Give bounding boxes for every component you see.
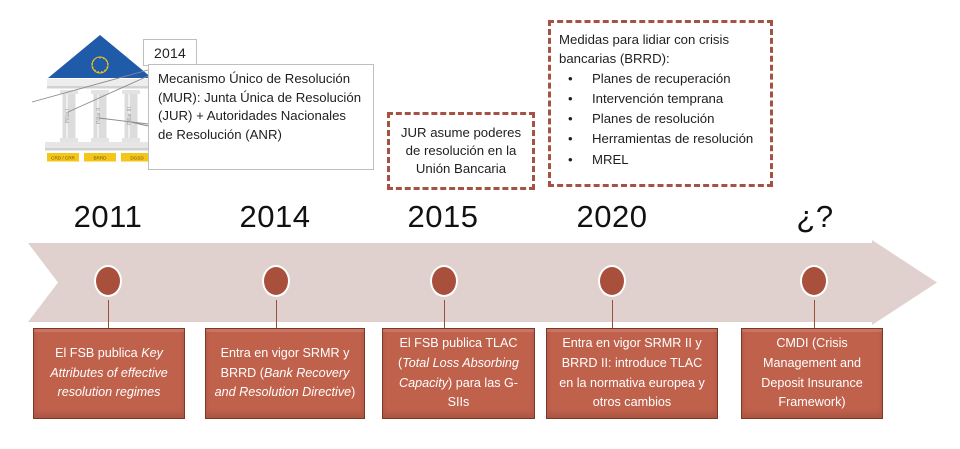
connector-stem-2015 xyxy=(444,300,445,328)
event-box-2014[interactable]: Entra en vigor SRMR y BRRD (Bank Recover… xyxy=(205,328,365,419)
connector-stem-future xyxy=(814,300,815,328)
event-box-text: El FSB publica TLAC (Total Loss Absorbin… xyxy=(390,334,527,412)
bullet-glyph: • xyxy=(568,89,573,109)
callout-year-chip-2014: 2014 xyxy=(143,39,197,66)
event-box-text: Entra en vigor SRMR y BRRD (Bank Recover… xyxy=(213,344,357,403)
year-label-2014: 2014 xyxy=(225,198,325,236)
list-item: • Planes de resolución xyxy=(559,109,762,129)
event-box-2015[interactable]: El FSB publica TLAC (Total Loss Absorbin… xyxy=(382,328,535,419)
svg-text:Pillar II: Pillar II xyxy=(96,108,102,124)
callout-brrd-bullet-list: • Planes de recuperación • Intervención … xyxy=(559,69,762,169)
connector-stem-2011 xyxy=(108,300,109,328)
svg-text:CRD / CRR: CRD / CRR xyxy=(51,155,75,160)
list-item: • MREL xyxy=(559,150,762,170)
year-label-2015: 2015 xyxy=(393,198,493,236)
bullet-glyph: • xyxy=(568,69,573,89)
milestone-dot-2014[interactable] xyxy=(262,265,290,297)
callout-brrd-measures: Medidas para lidiar con crisis bancarias… xyxy=(548,20,773,187)
milestone-dot-future[interactable] xyxy=(800,265,828,297)
milestone-dot-2020[interactable] xyxy=(598,265,626,297)
list-item-label: Herramientas de resolución xyxy=(592,131,753,146)
bullet-glyph: • xyxy=(568,129,573,149)
year-label-future: ¿? xyxy=(765,198,865,236)
connector-stem-2014 xyxy=(276,300,277,328)
event-box-future[interactable]: CMDI (Crisis Management and Deposit Insu… xyxy=(741,328,883,419)
event-box-text: CMDI (Crisis Management and Deposit Insu… xyxy=(749,334,875,412)
callout-brrd-heading: Medidas para lidiar con crisis bancarias… xyxy=(559,30,762,68)
callout-jur-resolution-powers: JUR asume poderes de resolución en la Un… xyxy=(387,112,535,190)
event-box-text: El FSB publica Key Attributes of effecti… xyxy=(41,344,177,403)
event-box-2020[interactable]: Entra en vigor SRMR II y BRRD II: introd… xyxy=(546,328,718,419)
list-item: • Planes de recuperación xyxy=(559,69,762,89)
year-label-2020: 2020 xyxy=(562,198,662,236)
milestone-dot-2015[interactable] xyxy=(430,265,458,297)
list-item-label: Intervención temprana xyxy=(592,91,723,106)
svg-text:Pillar I: Pillar I xyxy=(65,109,71,124)
event-box-2011[interactable]: El FSB publica Key Attributes of effecti… xyxy=(33,328,185,419)
list-item-label: MREL xyxy=(592,152,629,167)
list-item: • Herramientas de resolución xyxy=(559,129,762,149)
timeline-diagram: Pillar I Pillar II Pillar III CRD / CRR … xyxy=(0,0,960,449)
svg-text:BRRD: BRRD xyxy=(93,155,107,160)
milestone-dot-2011[interactable] xyxy=(94,265,122,297)
event-box-text: Entra en vigor SRMR II y BRRD II: introd… xyxy=(554,334,710,412)
list-item: • Intervención temprana xyxy=(559,89,762,109)
list-item-label: Planes de recuperación xyxy=(592,71,731,86)
svg-text:Pillar III: Pillar III xyxy=(127,107,133,125)
bullet-glyph: • xyxy=(568,150,573,170)
callout-mur-text: Mecanismo Único de Resolución (MUR): Jun… xyxy=(148,64,374,170)
bullet-glyph: • xyxy=(568,109,573,129)
eu-temple-icon: Pillar I Pillar II Pillar III CRD / CRR … xyxy=(44,32,156,162)
svg-text:DGSD: DGSD xyxy=(130,155,144,160)
list-item-label: Planes de resolución xyxy=(592,111,714,126)
callout-jur-text: JUR asume poderes de resolución en la Un… xyxy=(396,124,526,178)
year-label-2011: 2011 xyxy=(58,198,158,236)
connector-stem-2020 xyxy=(612,300,613,328)
